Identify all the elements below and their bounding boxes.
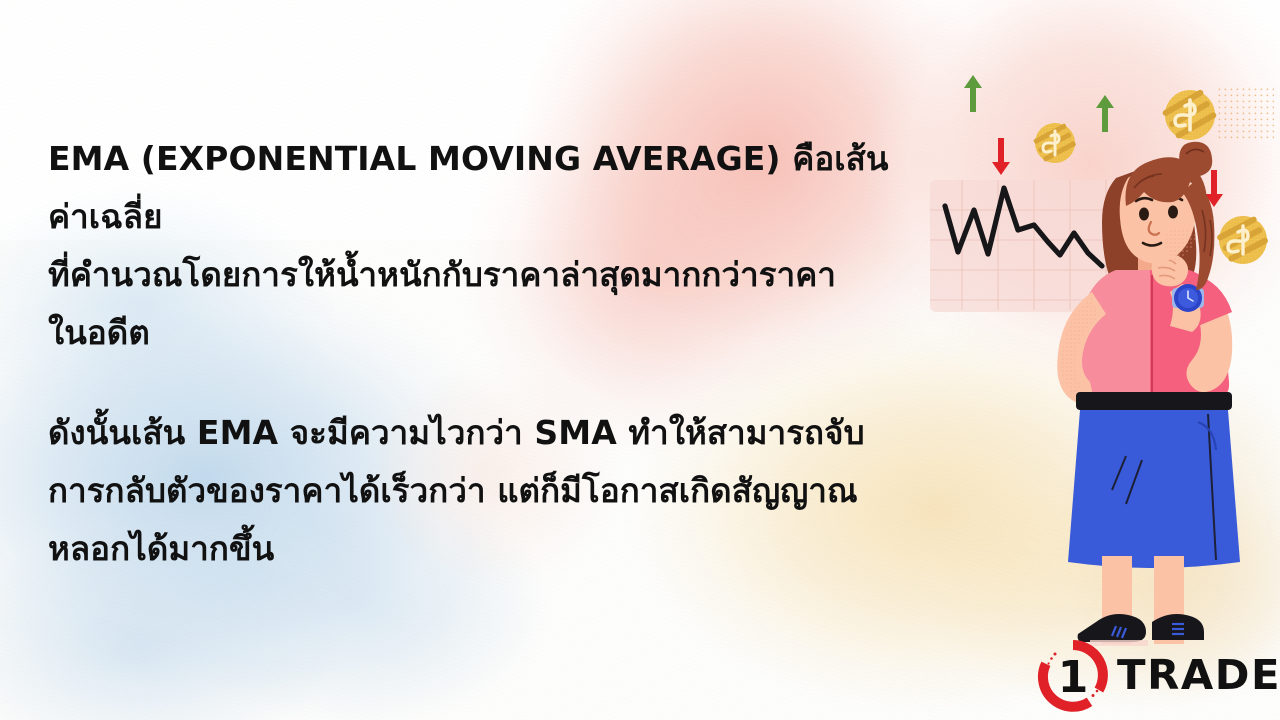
trend-up-arrow-icon [964, 75, 982, 112]
slide-canvas: EMA (EXPONENTIAL MOVING AVERAGE) คือเส้น… [0, 0, 1280, 720]
logo-ring-icon: 1 [1036, 638, 1110, 712]
logo-wordmark: TRADER [1117, 655, 1280, 696]
gold-coin-icon-2 [1162, 89, 1218, 140]
belt [1076, 392, 1232, 410]
gold-coin-icon-1 [1033, 123, 1077, 163]
trend-down-arrow-icon [992, 138, 1010, 175]
trader-illustration [930, 70, 1280, 670]
paragraph-ema-vs-sma: ดังนั้นเส้น EMA จะมีความไวกว่า SMA ทำให้… [48, 404, 928, 578]
hair-bun [1179, 142, 1212, 177]
paragraph-ema-definition: EMA (EXPONENTIAL MOVING AVERAGE) คือเส้น… [48, 130, 928, 362]
dot-sparkle-cluster [1218, 88, 1274, 140]
logo-numeral: 1 [1058, 652, 1089, 703]
brand-logo[interactable]: 1 TRADER [1036, 638, 1280, 712]
gold-coin-icon-3 [1216, 216, 1269, 264]
shoe-right [1152, 614, 1204, 640]
trend-up-arrow-icon-2 [1096, 95, 1114, 132]
content-text-block: EMA (EXPONENTIAL MOVING AVERAGE) คือเส้น… [48, 130, 928, 578]
